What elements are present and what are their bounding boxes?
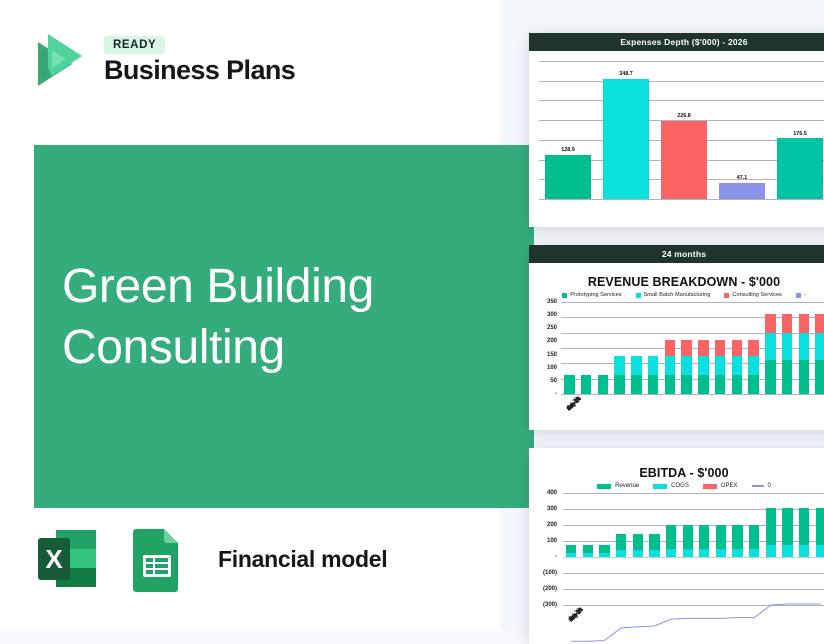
legend-swatch	[562, 293, 567, 298]
microsoft-excel-icon: X	[32, 524, 102, 594]
ebitda-y-axis: 400300200100-(100)(200)(300)	[537, 493, 559, 605]
bar-value-label: 128.9	[561, 147, 575, 153]
legend-item: 0	[752, 483, 771, 489]
legend-label: -	[804, 292, 806, 298]
bar-value-label: 47.1	[737, 175, 748, 181]
revenue-legend: Prototyping ServicesSmall Batch Manufact…	[537, 292, 824, 298]
bar-segment	[614, 375, 624, 394]
y-tick-label: 200	[547, 338, 557, 344]
y-tick-label: (200)	[543, 586, 557, 592]
bar-segment	[665, 356, 675, 375]
bar-column	[678, 302, 695, 394]
bar-column	[762, 302, 779, 394]
chart-card-revenue[interactable]: 24 months REVENUE BREAKDOWN - $'000 Prot…	[529, 245, 824, 430]
revenue-chart-header: 24 months	[529, 245, 824, 263]
legend-label: Consulting Services	[732, 292, 781, 298]
bar-segment	[631, 375, 641, 394]
bar-segment	[631, 356, 641, 375]
bar-segment	[799, 333, 809, 361]
bar-segment	[698, 356, 708, 375]
bar-segment	[748, 340, 758, 356]
legend-label: 0	[768, 483, 771, 489]
bar-column	[745, 302, 762, 394]
bar-column	[611, 302, 628, 394]
bar-segment	[765, 333, 775, 361]
bar-column	[712, 302, 729, 394]
google-sheets-icon	[122, 524, 192, 594]
page-title: Green Building Consulting	[62, 256, 532, 379]
bar-segment	[581, 375, 591, 394]
bar	[777, 138, 822, 199]
bar-segment	[815, 314, 824, 333]
bar-segment	[748, 375, 758, 394]
bar	[719, 183, 764, 199]
bar-segment	[782, 360, 792, 394]
ebitda-zero-line	[563, 493, 824, 644]
bar-segment	[598, 375, 608, 394]
bar	[545, 155, 590, 199]
bar-segment	[648, 356, 658, 375]
expenses-plot-area: 128.9348.7226.847.1176.5	[539, 61, 824, 199]
bar-segment	[782, 314, 792, 333]
ebitda-chart-title: EBITDA - $'000	[537, 466, 824, 480]
play-triangle-logo-icon	[28, 28, 90, 92]
bar-segment	[765, 360, 775, 394]
ready-badge: READY	[104, 36, 165, 54]
bar-segment	[665, 340, 675, 356]
y-tick-label: 50	[550, 378, 557, 384]
brand-logo: READY Business Plans	[28, 28, 295, 92]
legend-swatch	[597, 484, 611, 489]
bar-value-label: 176.5	[793, 131, 807, 137]
bar-segment	[799, 314, 809, 333]
expenses-chart-header: Expenses Depth ($'000) - 2026	[529, 33, 824, 51]
ebitda-legend: RevenueCOGSOPEX0	[537, 483, 824, 489]
y-tick-label: 200	[547, 522, 557, 528]
bar	[603, 79, 648, 199]
bar-column	[578, 302, 595, 394]
bar-segment	[732, 375, 742, 394]
bar-segment	[648, 375, 658, 394]
legend-item: COGS	[653, 483, 689, 489]
bar-column	[729, 302, 746, 394]
bar-value-label: 348.7	[619, 71, 633, 77]
y-tick-label: 250	[547, 325, 557, 331]
bar-segment	[815, 360, 824, 394]
y-tick-label: 100	[547, 365, 557, 371]
legend-label: OPEX	[721, 483, 738, 489]
bar-column	[812, 302, 824, 394]
bar-column	[561, 302, 578, 394]
y-tick-label: 400	[547, 490, 557, 496]
bar-segment	[765, 314, 775, 333]
expenses-bar-group: 128.9348.7226.847.1176.5	[539, 61, 824, 199]
y-tick-label: 350	[547, 299, 557, 305]
bar-segment	[815, 333, 824, 361]
legend-swatch	[653, 484, 667, 489]
revenue-y-axis: 35030025020015010050-	[537, 302, 559, 394]
bar-column	[645, 302, 662, 394]
gridline	[561, 394, 824, 395]
bar-segment	[715, 375, 725, 394]
gridline	[539, 199, 824, 200]
bar-segment	[665, 375, 675, 394]
revenue-plot-area: 35030025020015010050-	[561, 302, 824, 394]
brand-name: Business Plans	[104, 57, 295, 84]
bar-segment	[614, 356, 624, 375]
y-tick-label: 300	[547, 312, 557, 318]
bar-segment	[681, 356, 691, 375]
legend-swatch	[636, 293, 641, 298]
bar-column: 128.9	[539, 61, 597, 199]
bar-segment	[681, 340, 691, 356]
y-tick-label: 300	[547, 506, 557, 512]
legend-swatch	[752, 485, 764, 487]
legend-item: Consulting Services	[724, 292, 781, 298]
y-tick-label: -	[555, 391, 557, 397]
chart-card-ebitda[interactable]: EBITDA - $'000 RevenueCOGSOPEX0 40030020…	[529, 448, 824, 644]
bar-segment	[698, 340, 708, 356]
bar-column: 176.5	[771, 61, 824, 199]
bar-segment	[698, 375, 708, 394]
bar-segment	[564, 375, 574, 394]
bar-segment	[732, 340, 742, 356]
legend-swatch	[796, 293, 801, 298]
legend-label: COGS	[671, 483, 689, 489]
legend-label: Revenue	[615, 483, 639, 489]
y-tick-label: -	[555, 554, 557, 560]
poster-canvas: READY Business Plans Green Building Cons…	[0, 0, 824, 631]
legend-item: -	[796, 292, 806, 298]
bar-segment	[799, 360, 809, 394]
legend-swatch	[703, 484, 717, 489]
bar-column: 47.1	[713, 61, 771, 199]
bar-column	[779, 302, 796, 394]
y-tick-label: 150	[547, 352, 557, 358]
legend-swatch	[724, 293, 729, 298]
bar-column	[796, 302, 813, 394]
svg-text:X: X	[45, 544, 63, 574]
bar-segment	[715, 356, 725, 375]
revenue-bar-group	[561, 302, 824, 394]
legend-item: Revenue	[597, 483, 639, 489]
bar-column	[628, 302, 645, 394]
bar-segment	[782, 333, 792, 361]
legend-item: Small Batch Manufacturing	[636, 292, 711, 298]
ebitda-plot-area: 400300200100-(100)(200)(300)	[563, 493, 824, 605]
y-tick-label: 100	[547, 538, 557, 544]
bar	[661, 121, 706, 199]
bar-segment	[732, 356, 742, 375]
legend-label: Small Batch Manufacturing	[644, 292, 711, 298]
y-tick-label: (100)	[543, 570, 557, 576]
format-row: X Financial model	[32, 524, 387, 594]
bar-column: 348.7	[597, 61, 655, 199]
bar-column	[595, 302, 612, 394]
revenue-chart-title: REVENUE BREAKDOWN - $'000	[537, 275, 824, 289]
chart-card-expenses[interactable]: Expenses Depth ($'000) - 2026 128.9348.7…	[529, 33, 824, 227]
bar-column	[662, 302, 679, 394]
legend-label: Prototyping Services	[570, 292, 621, 298]
legend-item: OPEX	[703, 483, 738, 489]
bar-column: 226.8	[655, 61, 713, 199]
legend-item: Prototyping Services	[562, 292, 621, 298]
bar-segment	[715, 340, 725, 356]
bar-value-label: 226.8	[677, 113, 691, 119]
format-label: Financial model	[218, 546, 387, 573]
y-tick-label: (300)	[543, 602, 557, 608]
bar-column	[695, 302, 712, 394]
bar-segment	[748, 356, 758, 375]
bar-segment	[681, 375, 691, 394]
